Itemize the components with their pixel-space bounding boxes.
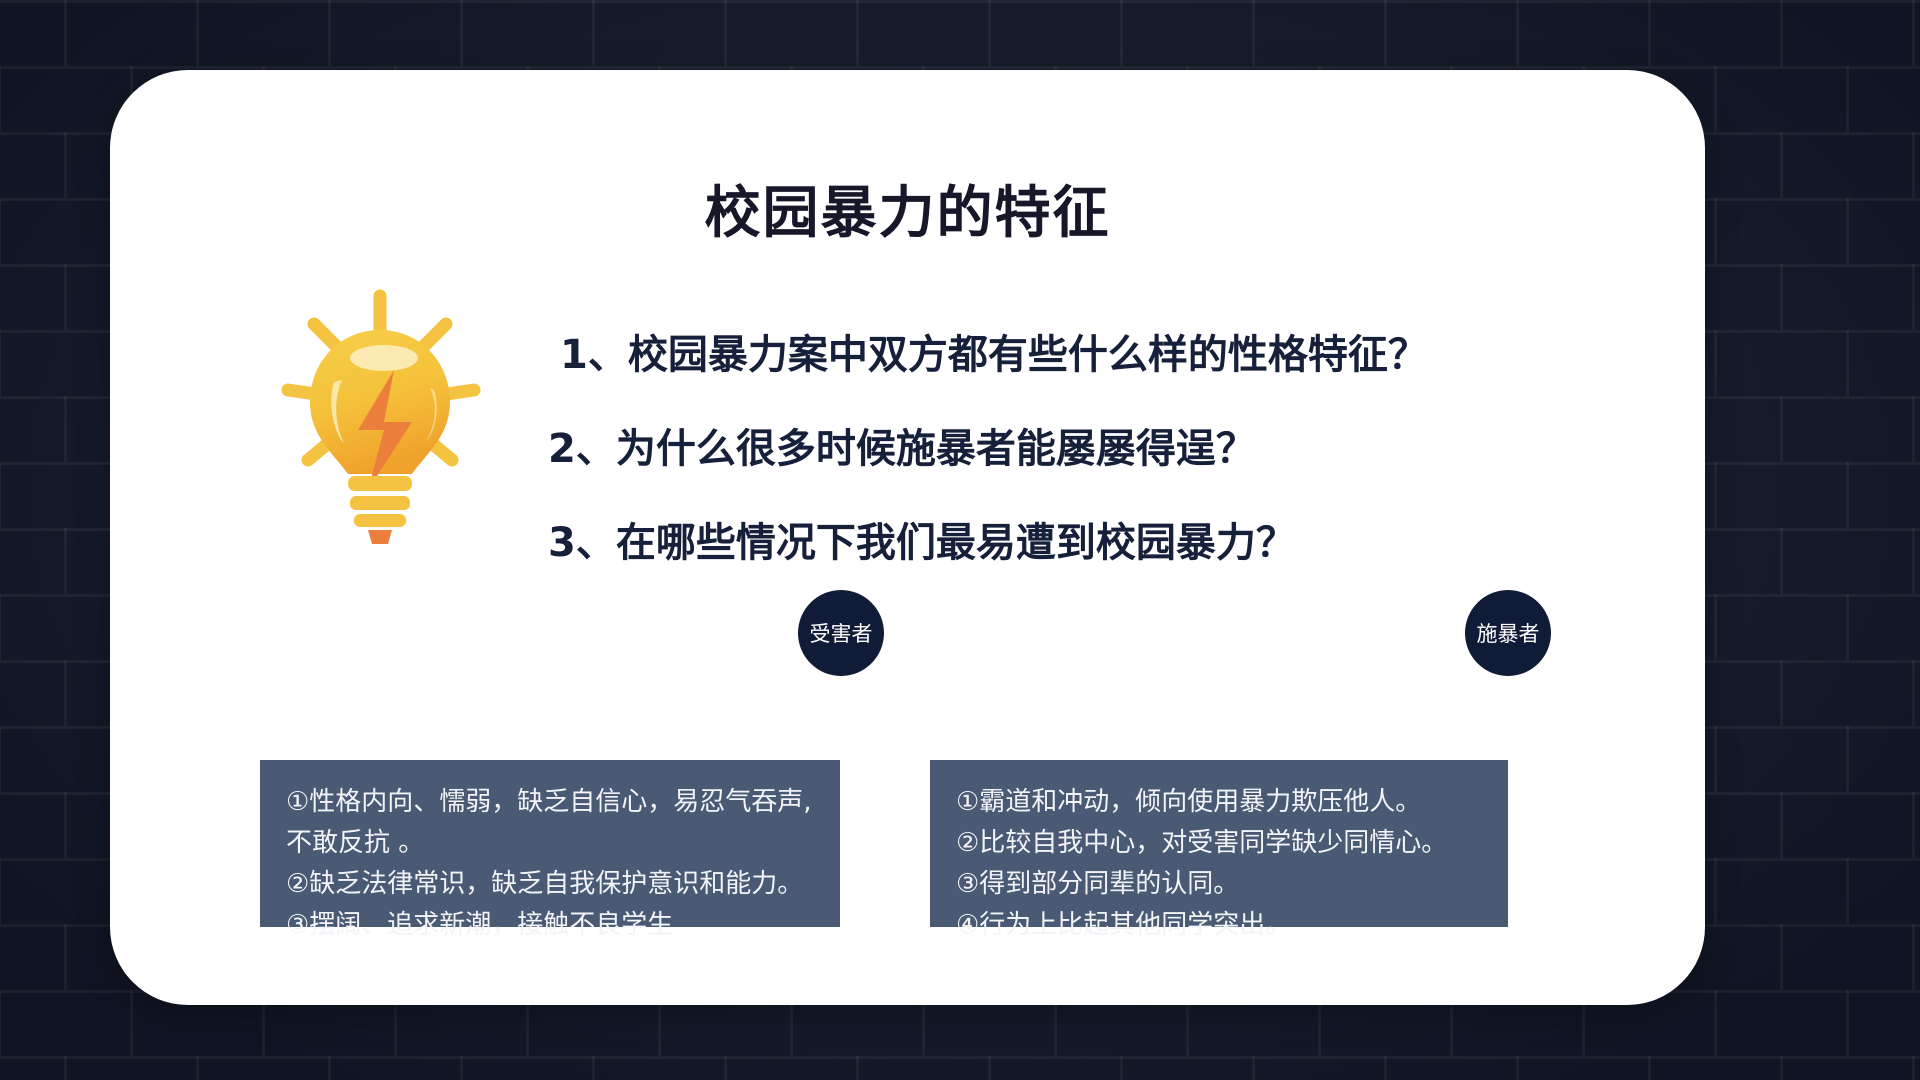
panel-victim-line-2: 不敢反抗 。 — [286, 823, 814, 864]
panel-victim-line-1: ①性格内向、懦弱，缺乏自信心，易忍气吞声, — [286, 782, 814, 823]
panel-victim-line-3: ②缺乏法律常识，缺乏自我保护意识和能力。 — [286, 864, 814, 905]
question-item-1: 1、 校园暴力案中双方都有些什么样的性格特征？ — [540, 322, 1700, 380]
question-list: 1、 校园暴力案中双方都有些什么样的性格特征？ 2、 为什么很多时候施暴者能屡屡… — [540, 322, 1700, 604]
lightbulb-icon — [262, 278, 512, 546]
question-item-2: 2、 为什么很多时候施暴者能屡屡得逞？ — [540, 416, 1700, 474]
question-text: 在哪些情况下我们最易遭到校园暴力？ — [616, 510, 1296, 568]
badge-abuser: 施暴者 — [1465, 590, 1551, 676]
question-item-3: 3、 在哪些情况下我们最易遭到校园暴力？ — [540, 510, 1700, 568]
question-number: 3、 — [548, 510, 616, 568]
panel-abuser-line-4: ④行为上比起其他同学突出。 — [956, 905, 1482, 946]
question-number: 2、 — [548, 416, 616, 474]
panel-abuser-line-2: ②比较自我中心，对受害同学缺少同情心。 — [956, 823, 1482, 864]
panel-abuser: ①霸道和冲动，倾向使用暴力欺压他人。 ②比较自我中心，对受害同学缺少同情心。 ③… — [930, 760, 1508, 927]
page-title: 校园暴力的特征 — [110, 168, 1705, 249]
question-text: 校园暴力案中双方都有些什么样的性格特征？ — [628, 322, 1428, 380]
panel-abuser-line-3: ③得到部分同辈的认同。 — [956, 864, 1482, 905]
slide-root: 校园暴力的特征 — [0, 0, 1920, 1080]
panel-victim-line-4: ③摆阔、追求新潮，接触不良学生 — [286, 905, 814, 946]
question-number: 1、 — [560, 322, 628, 380]
panel-victim: ①性格内向、懦弱，缺乏自信心，易忍气吞声, 不敢反抗 。 ②缺乏法律常识，缺乏自… — [260, 760, 840, 927]
badge-victim: 受害者 — [798, 590, 884, 676]
question-text: 为什么很多时候施暴者能屡屡得逞？ — [616, 416, 1256, 474]
content-card: 校园暴力的特征 — [110, 70, 1705, 1005]
panel-abuser-line-1: ①霸道和冲动，倾向使用暴力欺压他人。 — [956, 782, 1482, 823]
